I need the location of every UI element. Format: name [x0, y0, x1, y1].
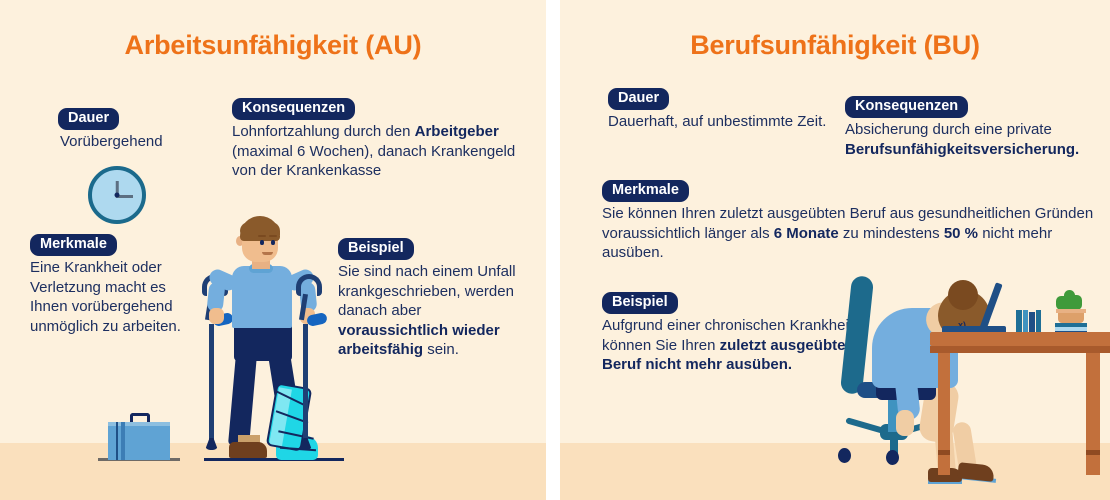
- badge-dauer-au: Dauer: [58, 108, 119, 130]
- badge-wrap: Konsequenzen: [232, 98, 522, 120]
- illustration-man-with-crutches: [196, 216, 366, 462]
- kons-au-part1: Lohnfortzahlung durch den: [232, 123, 415, 140]
- text-konsequenzen-au: Lohnfortzahlung durch den Arbeitgeber (m…: [232, 122, 522, 181]
- panel-title-au: Arbeitsunfähigkeit (AU): [0, 30, 546, 61]
- illustration-exhausted-woman-at-desk: x): [830, 272, 1110, 472]
- desk-apron: [930, 346, 1110, 353]
- woman-hand: [896, 410, 914, 436]
- man-shoe: [229, 442, 267, 458]
- man-eyebrow-right: [269, 235, 277, 237]
- panel-title-bu: Berufsunfähigkeit (BU): [560, 30, 1110, 61]
- kons-bu-bold1: Berufsunfähigkeitsversicherung.: [845, 141, 1079, 158]
- cactus-arm-right: [1074, 295, 1082, 310]
- merk-bu-bold2: 50 %: [944, 225, 978, 242]
- chair-caster-right: [886, 450, 899, 465]
- man-eye-left: [260, 240, 264, 245]
- man-eyebrow-left: [258, 235, 266, 237]
- desk-leg-left-foot: [938, 450, 950, 455]
- kons-au-bold1: Arbeitgeber: [415, 123, 499, 140]
- text-dauer-bu: Dauerhaft, auf unbestimmte Zeit.: [608, 112, 838, 132]
- plant-pot-rim: [1056, 309, 1086, 313]
- clock-center-pin: [115, 193, 120, 198]
- woman-hair-bun: [948, 280, 978, 310]
- block-konsequenzen-bu: Konsequenzen Absicherung durch eine priv…: [845, 96, 1095, 159]
- text-konsequenzen-bu: Absicherung durch eine private Berufsunf…: [845, 120, 1095, 159]
- crutch-tip: [299, 438, 312, 450]
- badge-beispiel-bu: Beispiel: [602, 292, 678, 314]
- crutch-upper-arm: [299, 294, 308, 320]
- crutch-cuff: [296, 274, 322, 296]
- panel-berufsunfaehigkeit: Berufsunfähigkeit (BU) Dauer Dauerhaft, …: [560, 0, 1110, 500]
- clock-icon: [88, 166, 146, 224]
- man-mouth: [262, 252, 273, 255]
- badge-wrap: Dauer: [608, 88, 838, 110]
- cactus-plant-icon: [1052, 290, 1092, 336]
- block-konsequenzen-au: Konsequenzen Lohnfortzahlung durch den A…: [232, 98, 522, 181]
- crutch-tip: [205, 438, 218, 450]
- infographic-root: Arbeitsunfähigkeit (AU) Dauer Vorübergeh…: [0, 0, 1110, 500]
- kons-bu-part1: Absicherung durch eine private: [845, 121, 1052, 138]
- text-merkmale-au: Eine Krankheit oder Verletzung macht es …: [30, 258, 195, 336]
- desk-leg-right: [1086, 353, 1100, 475]
- badge-wrap: Konsequenzen: [845, 96, 1095, 118]
- crutch-grip: [306, 312, 328, 327]
- crutch-shaft: [209, 324, 214, 442]
- cactus-arm-left: [1056, 296, 1064, 310]
- desk-leg-left: [938, 353, 950, 475]
- man-left-hand: [209, 308, 224, 324]
- merk-bu-part2: zu mindestens: [839, 225, 944, 242]
- crutch-shaft: [303, 324, 308, 442]
- man-torso: [232, 266, 292, 328]
- desk-leg-right-foot: [1086, 450, 1100, 455]
- panel-arbeitsunfaehigkeit: Arbeitsunfähigkeit (AU) Dauer Vorübergeh…: [0, 0, 546, 500]
- beis-au-part2: sein.: [423, 341, 459, 358]
- badge-merkmale-bu: Merkmale: [602, 180, 689, 202]
- badge-merkmale-au: Merkmale: [30, 234, 117, 256]
- badge-wrap: Merkmale: [30, 234, 195, 256]
- badge-konsequenzen-bu: Konsequenzen: [845, 96, 968, 118]
- chair-caster-left: [838, 448, 851, 463]
- badge-dauer-bu: Dauer: [608, 88, 669, 110]
- block-merkmale-au: Merkmale Eine Krankheit oder Verletzung …: [30, 234, 195, 336]
- badge-wrap: Merkmale: [602, 180, 1102, 202]
- badge-wrap: Dauer: [58, 108, 218, 130]
- block-merkmale-bu: Merkmale Sie können Ihren zuletzt ausgeü…: [602, 180, 1102, 263]
- man-fringe: [240, 222, 280, 235]
- suitcase-strap-2: [121, 422, 125, 460]
- desk-top: [930, 332, 1110, 346]
- block-dauer-bu: Dauer Dauerhaft, auf unbestimmte Zeit.: [608, 88, 838, 132]
- crutch-right-icon: [296, 274, 330, 454]
- text-dauer-au: Vorübergehend: [58, 132, 218, 152]
- man-eye-right: [271, 240, 275, 245]
- suitcase-icon: [108, 412, 170, 460]
- merk-bu-bold1: 6 Monate: [774, 225, 839, 242]
- badge-konsequenzen-au: Konsequenzen: [232, 98, 355, 120]
- kons-au-part2: (maximal 6 Wochen), danach Krankengeld v…: [232, 143, 515, 180]
- office-chair-backrest: [840, 275, 874, 395]
- block-dauer-au: Dauer Vorübergehend: [58, 108, 218, 152]
- suitcase-strap-1: [116, 422, 118, 460]
- text-merkmale-bu: Sie können Ihren zuletzt ausgeübten Beru…: [602, 204, 1102, 263]
